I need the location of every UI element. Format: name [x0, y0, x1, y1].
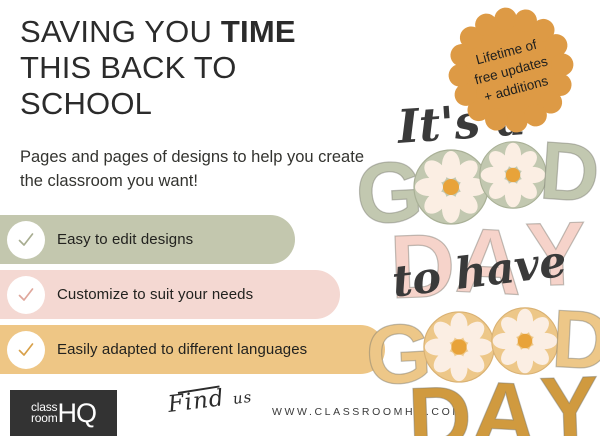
- find-us-word: Find: [166, 385, 226, 418]
- letter-a-gold: A: [470, 368, 540, 436]
- headline-line2: THIS BACK TO: [20, 50, 237, 85]
- headline-line1-regular: SAVING YOU: [20, 14, 221, 49]
- page-title: SAVING YOU TIME THIS BACK TO SCHOOL: [20, 14, 370, 122]
- feature-pill-languages[interactable]: Easily adapted to different languages: [0, 325, 385, 374]
- subheading: Pages and pages of designs to help you c…: [20, 145, 365, 193]
- letter-d-gold: D: [406, 373, 473, 436]
- feature-pill-label: Easily adapted to different languages: [57, 341, 307, 358]
- classroomhq-logo: class room HQ: [10, 390, 117, 436]
- check-icon: [7, 221, 45, 259]
- feature-pill-customize[interactable]: Customize to suit your needs: [0, 270, 340, 319]
- feature-pill-label: Easy to edit designs: [57, 231, 193, 248]
- headline-line1-bold: TIME: [221, 14, 296, 49]
- headline-line3: SCHOOL: [20, 86, 152, 121]
- check-icon: [7, 331, 45, 369]
- logo-hq-mark: HQ: [58, 400, 97, 427]
- check-icon: [7, 276, 45, 314]
- feature-pill-easy-to-edit[interactable]: Easy to edit designs: [0, 215, 295, 264]
- decorative-artwork: It's a G: [360, 0, 600, 436]
- letter-d-sage: D: [537, 130, 600, 216]
- find-us-script: Find us: [166, 382, 253, 418]
- feature-pill-label: Customize to suit your needs: [57, 286, 253, 303]
- poster-canvas: SAVING YOU TIME THIS BACK TO SCHOOL Page…: [0, 0, 600, 436]
- find-us-word-small: us: [232, 388, 253, 408]
- lifetime-updates-badge[interactable]: Lifetime of free updates + additions: [438, 0, 583, 143]
- logo-line-room: room: [31, 413, 58, 424]
- letter-y-gold: Y: [538, 363, 600, 436]
